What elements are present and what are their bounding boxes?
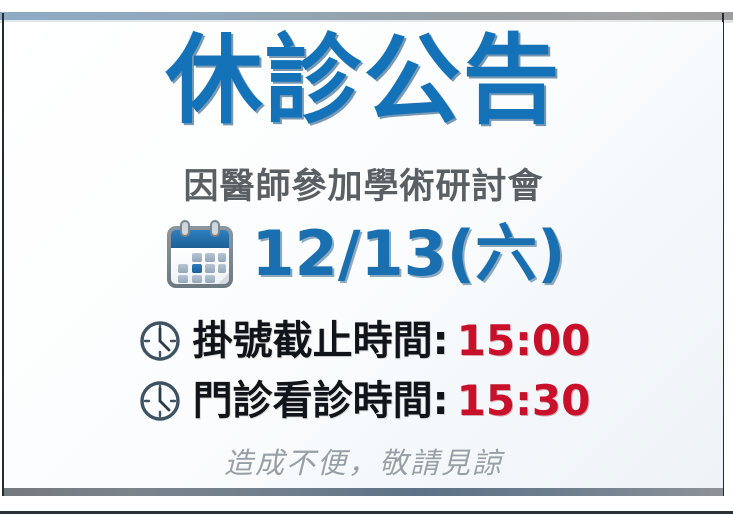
closure-date: 12/13(六) (252, 223, 566, 289)
poster-content: 休診公告 因醫師參加學術研討會 (4, 22, 723, 489)
registration-cutoff-time: 15:00 (457, 320, 591, 362)
consultation-time-label: 門診看診時間: (193, 381, 449, 421)
closure-notice-poster: 休診公告 因醫師參加學術研討會 (0, 0, 733, 514)
schedule-row-registration: 掛號截止時間: 15:00 (4, 318, 723, 364)
bottom-accent-band (4, 488, 723, 496)
page-title: 休診公告 (4, 30, 723, 133)
registration-cutoff-label: 掛號截止時間: (193, 321, 449, 361)
bottom-white-margin (0, 496, 733, 511)
clock-icon (137, 318, 183, 364)
clock-icon (137, 378, 183, 424)
calendar-icon (162, 218, 238, 294)
schedule-row-consultation: 門診看診時間: 15:30 (4, 378, 723, 424)
apology-note: 造成不便，敬請見諒 (4, 440, 723, 482)
poster-card: 休診公告 因醫師參加學術研討會 (4, 22, 723, 489)
consultation-time-value: 15:30 (457, 380, 591, 422)
date-row: 12/13(六) (4, 218, 723, 294)
page-subtitle: 因醫師參加學術研討會 (4, 158, 723, 209)
